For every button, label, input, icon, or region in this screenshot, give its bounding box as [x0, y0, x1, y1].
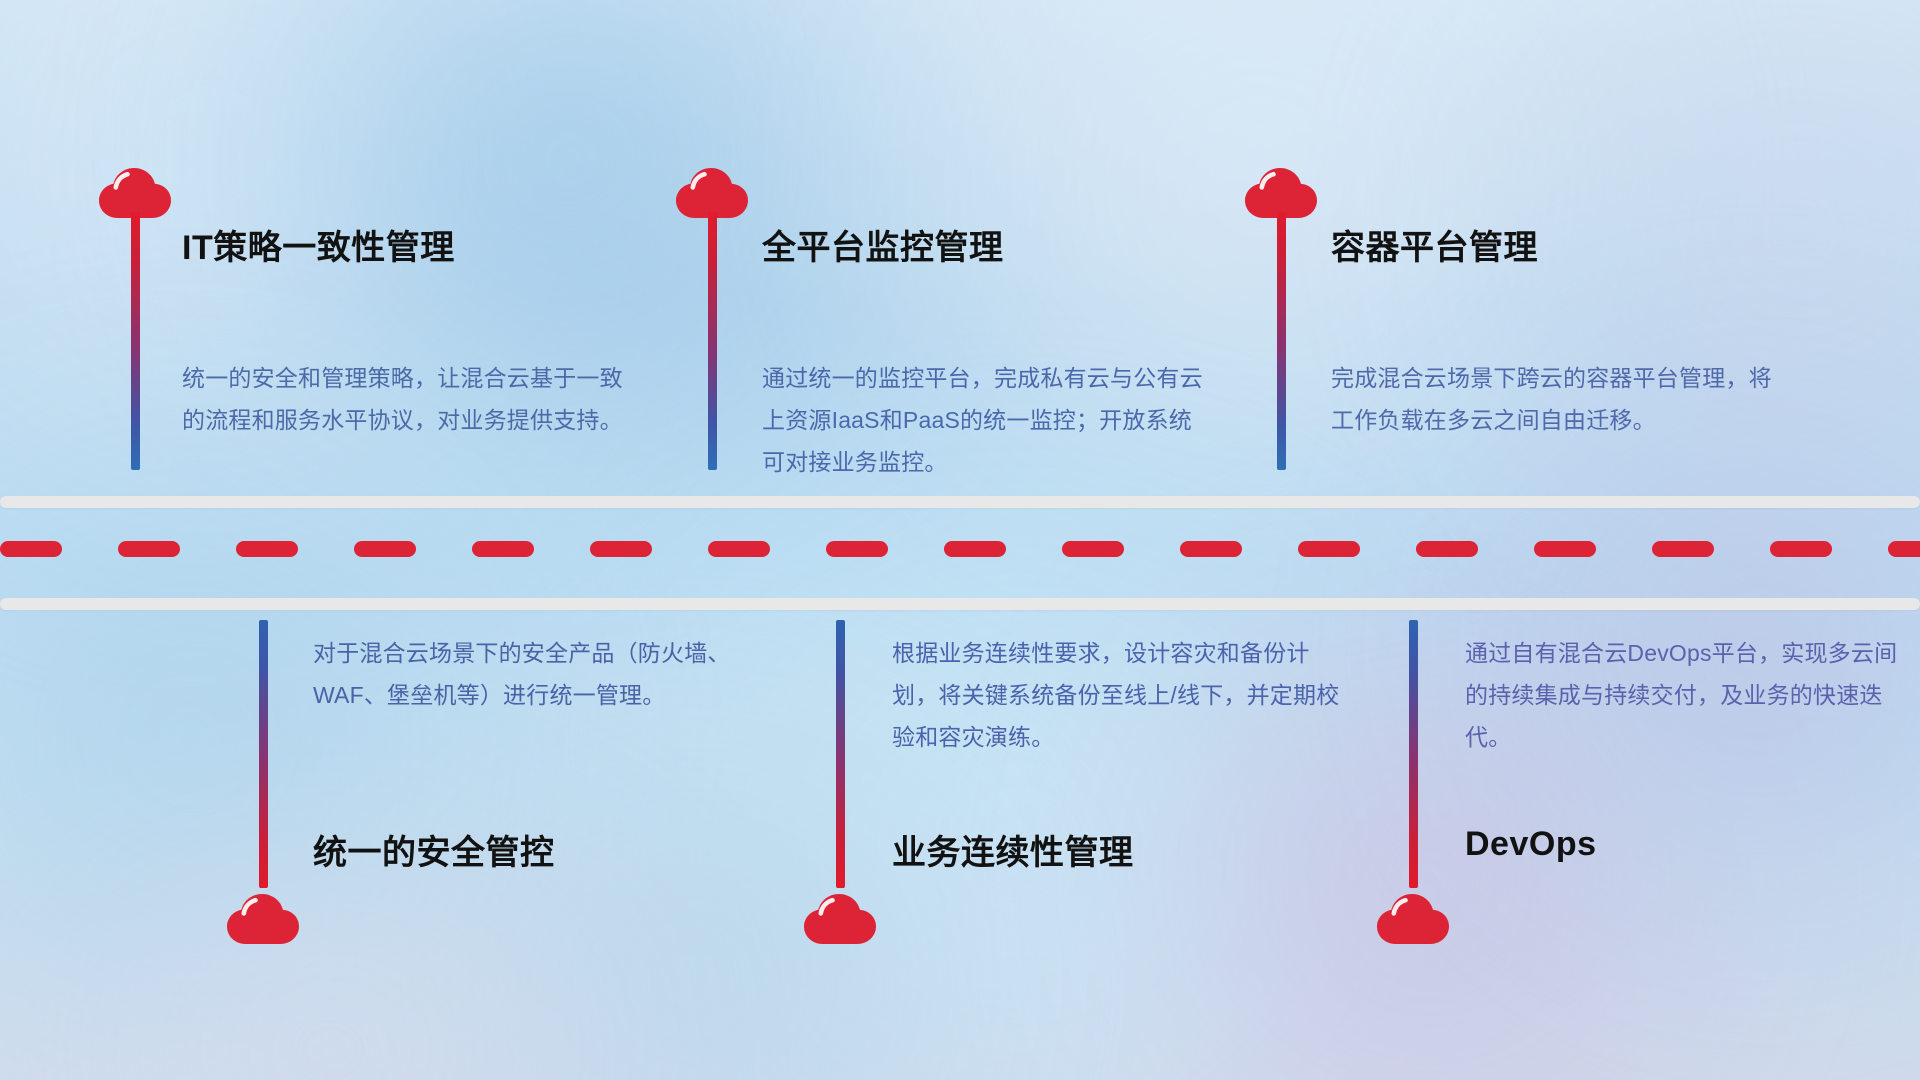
road-edge-top [0, 496, 1920, 508]
road-dash [708, 541, 770, 557]
road-dash [118, 541, 180, 557]
road-edge-bottom [0, 598, 1920, 610]
marker-stem [131, 212, 140, 470]
road-dash [1888, 541, 1920, 557]
road-dash [1062, 541, 1124, 557]
card-title: DevOps [1465, 825, 1597, 864]
road-dash [472, 541, 534, 557]
road-dash [944, 541, 1006, 557]
card-title: 全平台监控管理 [762, 220, 1004, 269]
infographic-canvas: IT策略一致性管理 统一的安全和管理策略，让混合云基于一致的流程和服务水平协议，… [0, 0, 1920, 1080]
marker-stem [259, 620, 268, 888]
road-dash [236, 541, 298, 557]
card-title: 业务连续性管理 [892, 825, 1134, 874]
cloud-pin-icon [225, 890, 303, 946]
road-center-dashes [0, 541, 1920, 557]
road-dash [354, 541, 416, 557]
cloud-pin-icon [802, 890, 880, 946]
road-dash [0, 541, 62, 557]
cloud-pin-icon [1375, 890, 1453, 946]
road-dash [1652, 541, 1714, 557]
road-dash [1770, 541, 1832, 557]
road-dash [826, 541, 888, 557]
road-dash [1534, 541, 1596, 557]
card-title: IT策略一致性管理 [182, 220, 455, 269]
card-body: 根据业务连续性要求，设计容灾和备份计划，将关键系统备份至线上/线下，并定期校验和… [892, 632, 1342, 758]
road-dash [590, 541, 652, 557]
card-body: 完成混合云场景下跨云的容器平台管理，将工作负载在多云之间自由迁移。 [1331, 357, 1781, 441]
card-title: 容器平台管理 [1331, 220, 1538, 269]
card-body: 统一的安全和管理策略，让混合云基于一致的流程和服务水平协议，对业务提供支持。 [182, 357, 632, 441]
marker-stem [1409, 620, 1418, 888]
marker-stem [1277, 212, 1286, 470]
road-dash [1416, 541, 1478, 557]
card-title: 统一的安全管控 [313, 825, 555, 874]
marker-stem [836, 620, 845, 888]
marker-stem [708, 212, 717, 470]
card-body: 对于混合云场景下的安全产品（防火墙、WAF、堡垒机等）进行统一管理。 [313, 632, 763, 716]
road-dash [1180, 541, 1242, 557]
road-dash [1298, 541, 1360, 557]
card-body: 通过统一的监控平台，完成私有云与公有云上资源IaaS和PaaS的统一监控；开放系… [762, 357, 1212, 483]
card-body: 通过自有混合云DevOps平台，实现多云间的持续集成与持续交付，及业务的快速迭代… [1465, 632, 1915, 758]
